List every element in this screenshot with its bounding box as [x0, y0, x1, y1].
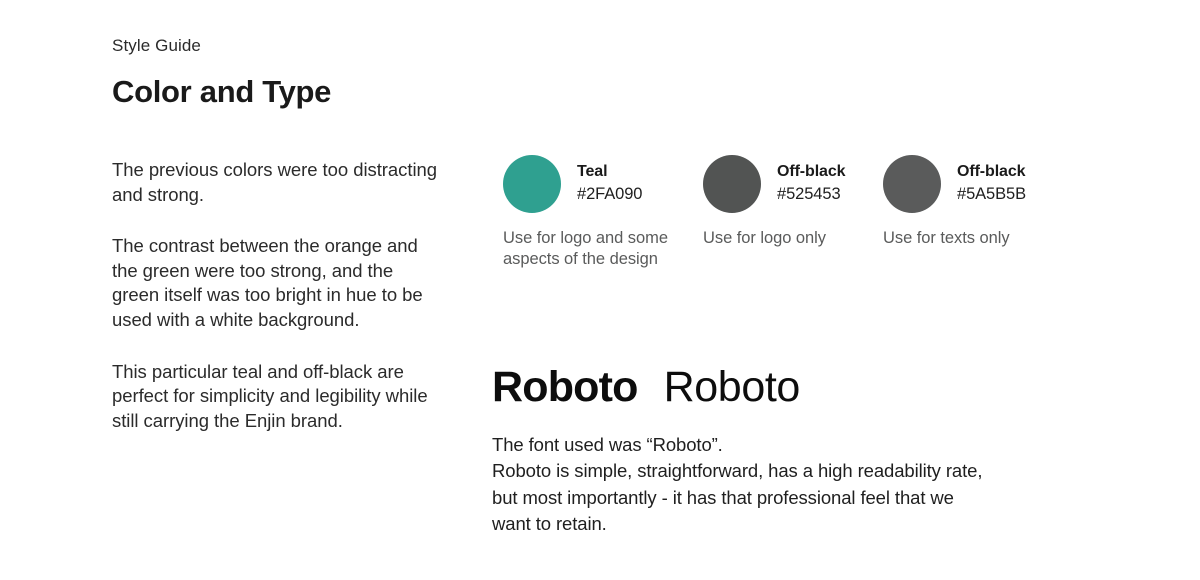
swatch-meta: Teal #2FA090 — [577, 161, 642, 207]
swatch-hex-value: #525453 — [777, 183, 845, 205]
typography-section: Roboto Roboto The font used was “Roboto”… — [492, 366, 1092, 538]
typography-description: The font used was “Roboto”. Roboto is si… — [492, 432, 1092, 538]
font-specimen-bold: Roboto — [492, 366, 638, 409]
swatch-meta: Off-black #525453 — [777, 161, 845, 207]
swatch-name: Teal — [577, 161, 642, 183]
rationale-text: The previous colors were too distracting… — [112, 158, 442, 433]
color-dot-off-black-text — [883, 155, 941, 213]
swatch-meta: Off-black #5A5B5B — [957, 161, 1026, 207]
color-dot-off-black-logo — [703, 155, 761, 213]
typography-description-line: The font used was “Roboto”. — [492, 432, 1092, 458]
color-palette: Teal #2FA090 Use for logo and some aspec… — [503, 155, 1063, 270]
style-guide-page: Style Guide Color and Type The previous … — [0, 0, 1200, 580]
swatch-usage-note: Use for logo and some aspects of the des… — [503, 228, 693, 270]
swatch-usage-note: Use for logo only — [703, 228, 883, 249]
rationale-paragraph: This particular teal and off-black are p… — [112, 360, 442, 434]
swatch-usage-note: Use for texts only — [883, 228, 1063, 249]
color-swatch: Teal #2FA090 Use for logo and some aspec… — [503, 155, 703, 270]
font-specimen-row: Roboto Roboto — [492, 366, 1092, 409]
typography-description-line: but most importantly - it has that profe… — [492, 485, 1092, 511]
swatch-header: Off-black #5A5B5B — [883, 155, 1063, 213]
page-title: Color and Type — [112, 74, 442, 110]
font-specimen-regular: Roboto — [664, 366, 800, 409]
color-swatch: Off-black #5A5B5B Use for texts only — [883, 155, 1063, 249]
rationale-paragraph: The contrast between the orange and the … — [112, 234, 442, 332]
intro-column: Style Guide Color and Type The previous … — [112, 36, 442, 433]
typography-description-line: Roboto is simple, straightforward, has a… — [492, 458, 1092, 484]
color-dot-teal — [503, 155, 561, 213]
rationale-paragraph: The previous colors were too distracting… — [112, 158, 442, 207]
swatch-hex-value: #5A5B5B — [957, 183, 1026, 205]
swatch-name: Off-black — [777, 161, 845, 183]
color-swatch: Off-black #525453 Use for logo only — [703, 155, 883, 249]
swatch-header: Teal #2FA090 — [503, 155, 703, 213]
eyebrow-label: Style Guide — [112, 36, 442, 56]
typography-description-line: want to retain. — [492, 511, 1092, 537]
swatch-hex-value: #2FA090 — [577, 183, 642, 205]
swatch-name: Off-black — [957, 161, 1026, 183]
swatch-header: Off-black #525453 — [703, 155, 883, 213]
